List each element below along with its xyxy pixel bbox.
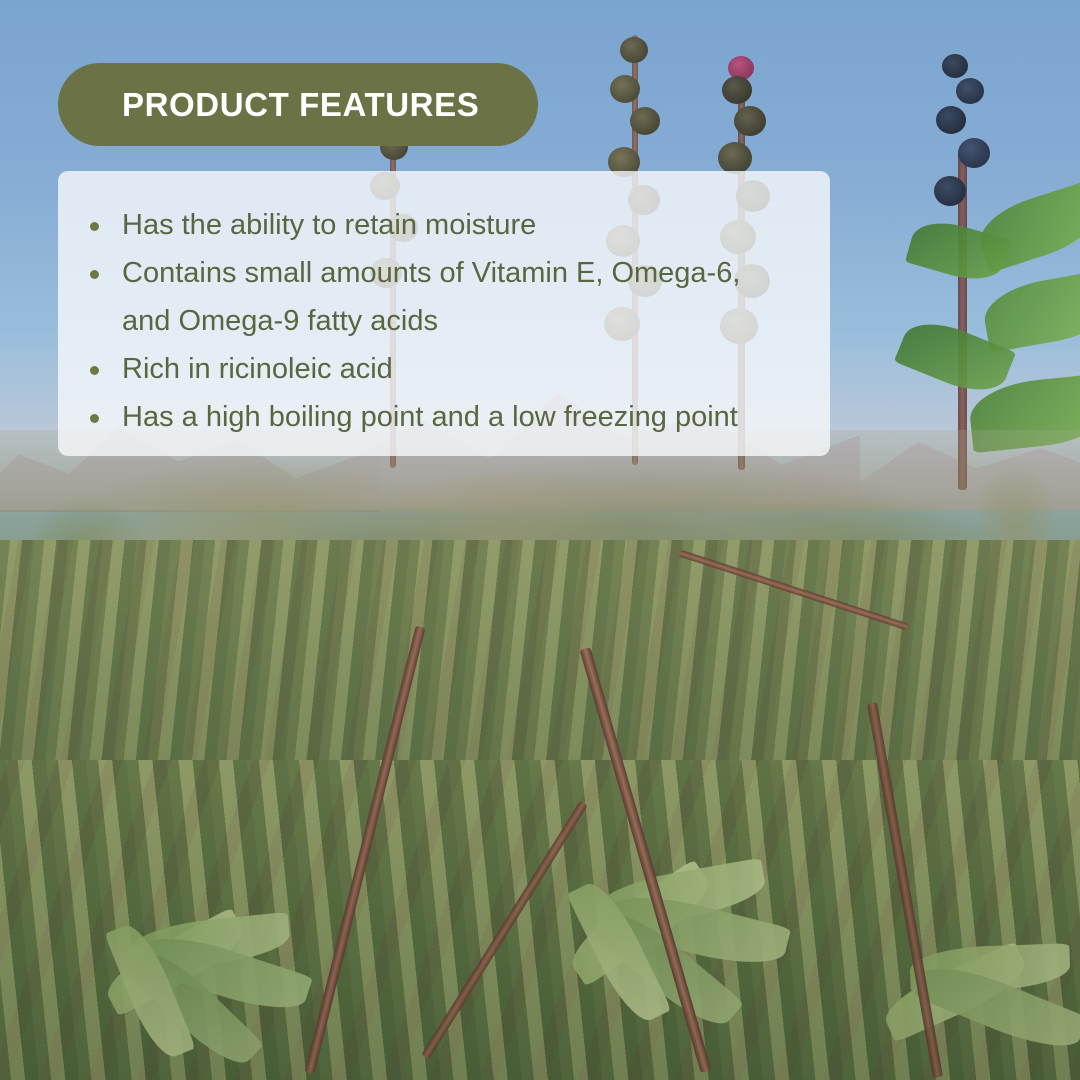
list-item: Contains small amounts of Vitamin E, Ome… [84, 249, 804, 345]
background-photo [0, 0, 1080, 1080]
badge-label: PRODUCT FEATURES [122, 86, 479, 124]
list-item: Has the ability to retain moisture [84, 201, 804, 249]
product-features-badge: PRODUCT FEATURES [58, 63, 538, 146]
photo-vignette [0, 0, 1080, 1080]
product-features-graphic: PRODUCT FEATURES Has the ability to reta… [0, 0, 1080, 1080]
features-card: Has the ability to retain moisture Conta… [58, 171, 830, 456]
list-item: Has a high boiling point and a low freez… [84, 393, 804, 441]
list-item: Rich in ricinoleic acid [84, 345, 804, 393]
features-list: Has the ability to retain moisture Conta… [84, 201, 804, 441]
